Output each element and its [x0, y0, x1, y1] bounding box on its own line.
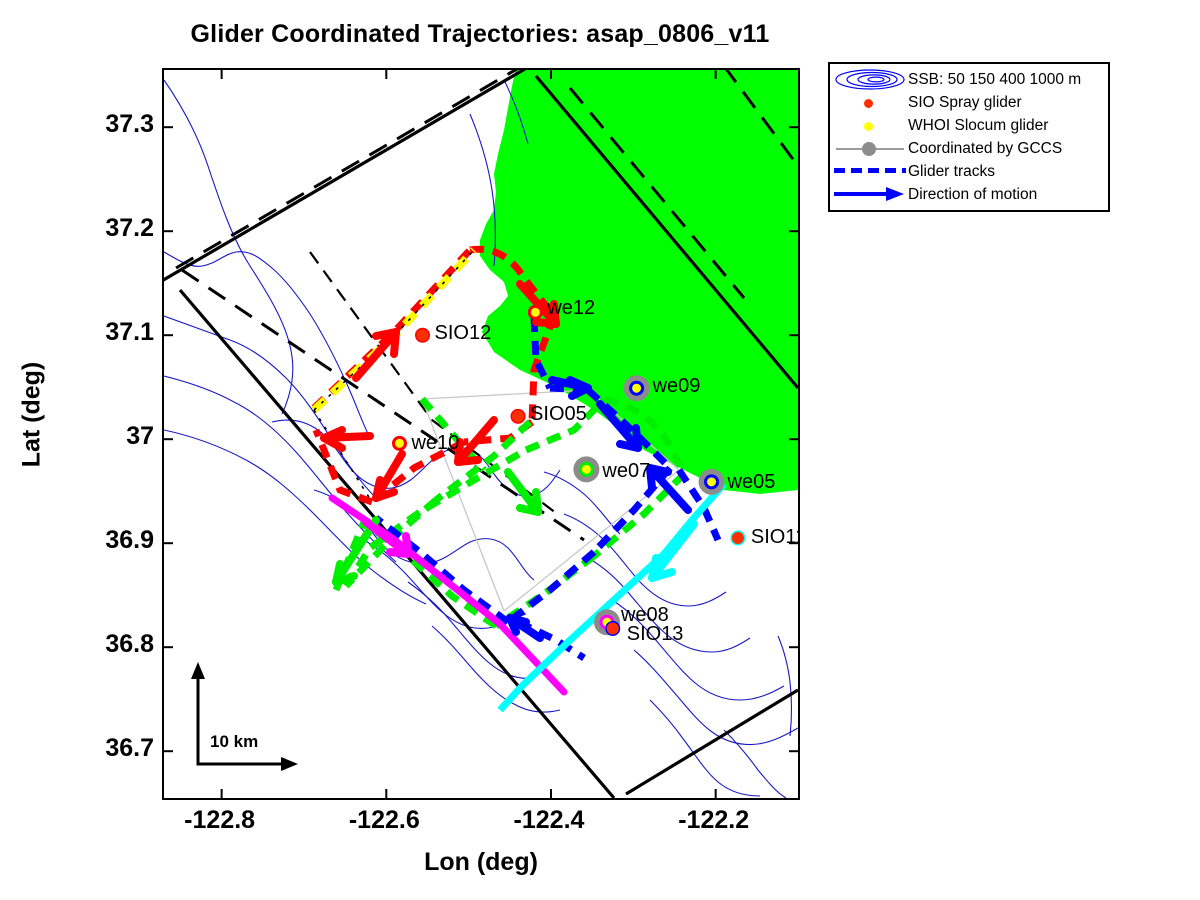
legend-label-glider-tracks: Glider tracks — [908, 164, 995, 180]
glider-label-we12: we12 — [547, 298, 595, 318]
glider-label-SIO13: SIO13 — [627, 624, 684, 644]
map-plot-area: SIO12we12we10SIO05we09we07we05SIO11we08S… — [162, 68, 800, 800]
glider-label-SIO05: SIO05 — [530, 404, 587, 424]
legend-item-ssb: SSB: 50 150 400 1000 m — [830, 68, 1108, 91]
y-tick-label: 37 — [36, 422, 154, 451]
x-tick-label: -122.2 — [678, 806, 749, 835]
glider-label-we05: we05 — [728, 472, 776, 492]
y-tick-label: 37.3 — [36, 110, 154, 139]
red-dot-icon — [830, 91, 908, 114]
glider-label-we09: we09 — [653, 376, 701, 396]
x-tick-label: -122.4 — [514, 806, 585, 835]
glider-label-SIO11: SIO11 — [751, 527, 800, 547]
legend-item-whoi-slocum: WHOI Slocum glider — [830, 114, 1108, 137]
scale-bar-east-arrow — [281, 757, 298, 771]
yellow-dot-icon — [830, 114, 908, 137]
y-tick-label: 37.2 — [36, 214, 154, 243]
glider-label-we10: we10 — [411, 433, 459, 453]
blue-arrow-icon — [830, 183, 908, 206]
legend-label-sio-spray: SIO Spray glider — [908, 95, 1022, 111]
x-tick-label: -122.6 — [349, 806, 420, 835]
y-axis-label: Lat (deg) — [18, 305, 47, 525]
gray-line-dot-icon — [830, 137, 908, 160]
page-title: Glider Coordinated Trajectories: asap_08… — [0, 20, 960, 49]
scale-bar: 10 km — [184, 660, 304, 775]
x-axis-ticks: -122.8-122.6-122.4-122.2 — [162, 806, 800, 846]
scale-bar-label: 10 km — [210, 732, 258, 752]
x-axis-label: Lon (deg) — [162, 848, 800, 877]
nested-contour-ellipses-icon — [830, 68, 908, 91]
legend-label-direction: Direction of motion — [908, 187, 1037, 203]
legend-item-gccs: Coordinated by GCCS — [830, 137, 1108, 160]
x-tick-label: -122.8 — [184, 806, 255, 835]
glider-label-SIO12: SIO12 — [435, 323, 492, 343]
legend-item-sio-spray: SIO Spray glider — [830, 91, 1108, 114]
blue-dashed-line-icon — [830, 160, 908, 183]
legend-label-ssb: SSB: 50 150 400 1000 m — [908, 72, 1081, 88]
y-tick-label: 37.1 — [36, 318, 154, 347]
legend-label-gccs: Coordinated by GCCS — [908, 141, 1062, 157]
glider-label-we08: we08 — [621, 605, 669, 625]
y-tick-label: 36.8 — [36, 630, 154, 659]
y-tick-label: 36.7 — [36, 734, 154, 763]
glider-label-we07: we07 — [602, 461, 650, 481]
legend-item-direction: Direction of motion — [830, 183, 1108, 206]
legend-item-glider-tracks: Glider tracks — [830, 160, 1108, 183]
legend-label-whoi-slocum: WHOI Slocum glider — [908, 118, 1048, 134]
map-legend: SSB: 50 150 400 1000 m SIO Spray glider … — [828, 62, 1110, 212]
scale-bar-north-arrow — [191, 662, 205, 679]
y-tick-label: 36.9 — [36, 526, 154, 555]
